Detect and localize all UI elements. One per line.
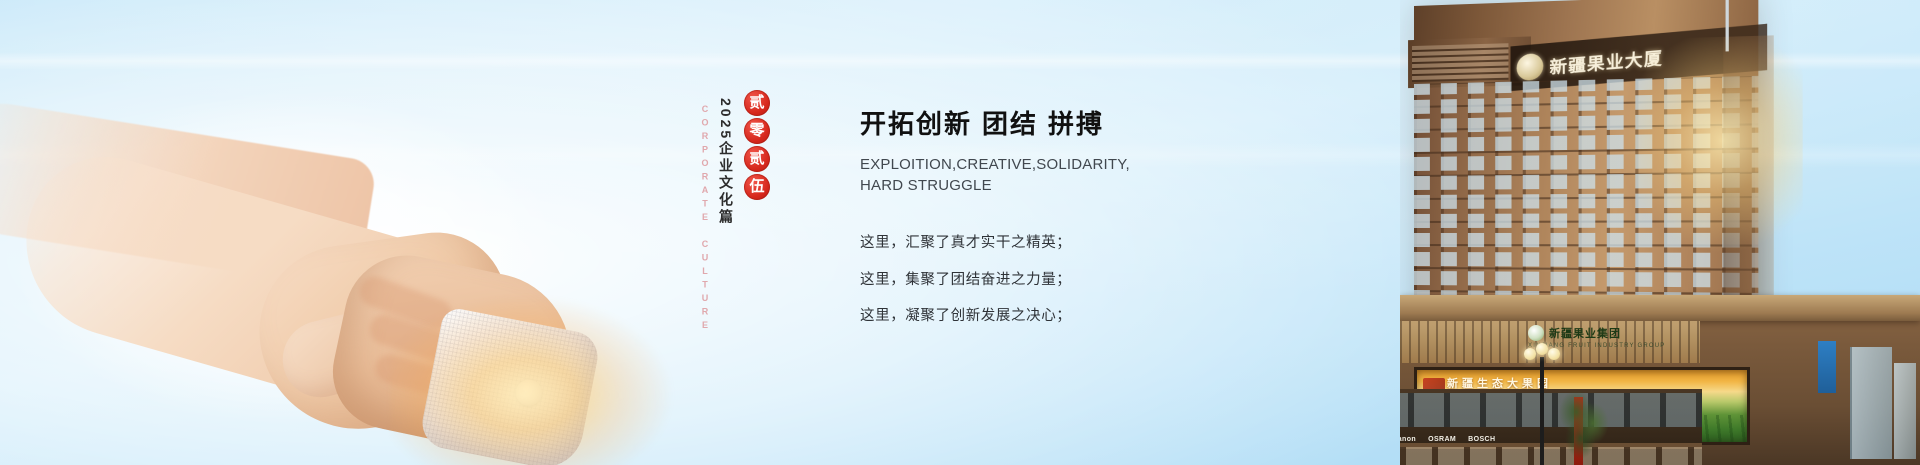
podium-sign: 新疆果业集团 [1528,325,1621,341]
tower-window-layer [1414,76,1758,392]
handshake-photo [0,120,720,465]
slogan-part-3: 拼搏 [1048,110,1104,140]
street-lamp [1540,357,1544,465]
building-photo: 新疆果业大厦 新疆果业集团 XINJIANG FRUIT INDUSTRY GR… [1400,0,1920,465]
vertical-chinese-label: 2025企业文化篇 [716,98,736,226]
storefront-glazing [1400,393,1702,427]
glass-entry-volume-secondary [1894,363,1916,459]
tower-side-wall [1723,35,1773,465]
seal-stamp-1: 贰 [744,90,770,116]
knuckle-crease [372,352,476,405]
group-logo-icon [1528,325,1544,341]
english-subtitle: EXPLOITION,CREATIVE,SOLIDARITY, HARD STR… [860,155,1160,196]
billboard-seal-icon [1423,378,1445,394]
sky-haze-band-upper [0,52,1920,70]
corporate-culture-banner: 诚 信 合 作 CORPORATE CULTURE 2025企业文化篇 贰 零 … [0,0,1920,465]
billboard-brand: 西域果园 [1546,390,1618,415]
arm-front [4,138,437,416]
vertical-culture-column: CORPORATE CULTURE 2025企业文化篇 贰 零 贰 伍 [700,86,770,286]
seal-stamp-3: 贰 [744,146,770,172]
sun-flare [390,270,810,465]
company-logo-icon [1517,53,1544,82]
calligraphy-headline: 诚 信 合 作 [242,87,718,315]
shirt-cuff [418,306,602,465]
tower-sign-band: 新疆果业大厦 [1510,24,1767,91]
billboard-subtext: 绿色天然 · 生态果园 [1548,410,1617,419]
body-line-3: 这里，凝聚了创新发展之决心； [860,309,1160,324]
blue-wall-panel [1818,341,1836,393]
hand-right [322,244,586,464]
calligraphy-char-1: 诚 [248,141,385,285]
lamp-head-icon [1524,343,1560,361]
brand-sign-bosch: BOSCH [1468,436,1495,443]
cuff-weave-texture [418,306,602,465]
body-line-1: 这里，汇聚了真才实干之精英； [860,236,1160,251]
vertical-banner-pole [1574,397,1583,465]
slogan-heading: 开拓创新团结拼搏 [860,104,1160,141]
copy-block: 开拓创新团结拼搏 EXPLOITION,CREATIVE,SOLIDARITY,… [860,104,1160,324]
office-tower: 新疆果业大厦 [1414,0,1758,465]
slogan-part-1: 开拓创新 [860,110,972,140]
cuff-button [514,377,544,407]
storefront-brand-signs: SIEMENS Canon OSRAM BOSCH [1400,436,1495,443]
retail-podium: 新疆果业集团 XINJIANG FRUIT INDUSTRY GROUP 新疆生… [1400,295,1920,465]
tower-facade-grid [1414,76,1758,392]
crown-louvre-grille [1412,43,1508,82]
storefront-strip: SIEMENS Canon OSRAM BOSCH [1400,389,1702,465]
street-tree [1556,391,1612,461]
podium-sign-subtext: XINJIANG FRUIT INDUSTRY GROUP [1528,343,1665,349]
calligraphy-char-3: 合 [516,139,654,275]
vertical-latin-label: CORPORATE CULTURE [700,104,710,334]
english-line-1: EXPLOITION,CREATIVE,SOLIDARITY, [860,156,1130,173]
english-line-2: HARD STRUGGLE [860,177,992,194]
arm-back [0,95,378,291]
seal-stamp-4: 伍 [744,174,770,200]
hand-left [248,224,521,442]
podium-roof-edge [1400,295,1920,321]
calligraphy-char-2: 信 [375,127,528,265]
storefront-base-bays [1400,447,1702,465]
tower-parapet [1414,0,1758,84]
billboard: 新疆生态大果园 西域果园 绿色天然 · 生态果园 [1414,367,1750,445]
billboard-title: 新疆生态大果园 [1447,375,1552,391]
podium-sign-text: 新疆果业集团 [1549,325,1621,341]
storefront-awning [1400,443,1702,449]
knuckle-crease [366,311,474,372]
seal-stack: 贰 零 贰 伍 [744,90,770,200]
knuckle-crease [356,272,456,333]
body-line-2: 这里，集聚了团结奋进之力量； [860,273,1160,288]
billboard-field-rows [1417,415,1747,442]
brand-sign-osram: OSRAM [1428,436,1456,443]
tower-sun-reflection [1525,34,1803,384]
slogan-part-2: 团结 [982,110,1038,140]
tower-sign-text: 新疆果业大厦 [1550,43,1663,78]
tower-crown-block [1408,36,1531,88]
brand-sign-canon: Canon [1400,436,1416,443]
seal-stamp-2: 零 [744,118,770,144]
thumb [275,303,408,405]
glass-entry-volume [1850,347,1892,459]
roof-mast [1726,0,1729,51]
podium-mesh-screen [1400,321,1700,363]
handshake-glow [20,90,660,465]
